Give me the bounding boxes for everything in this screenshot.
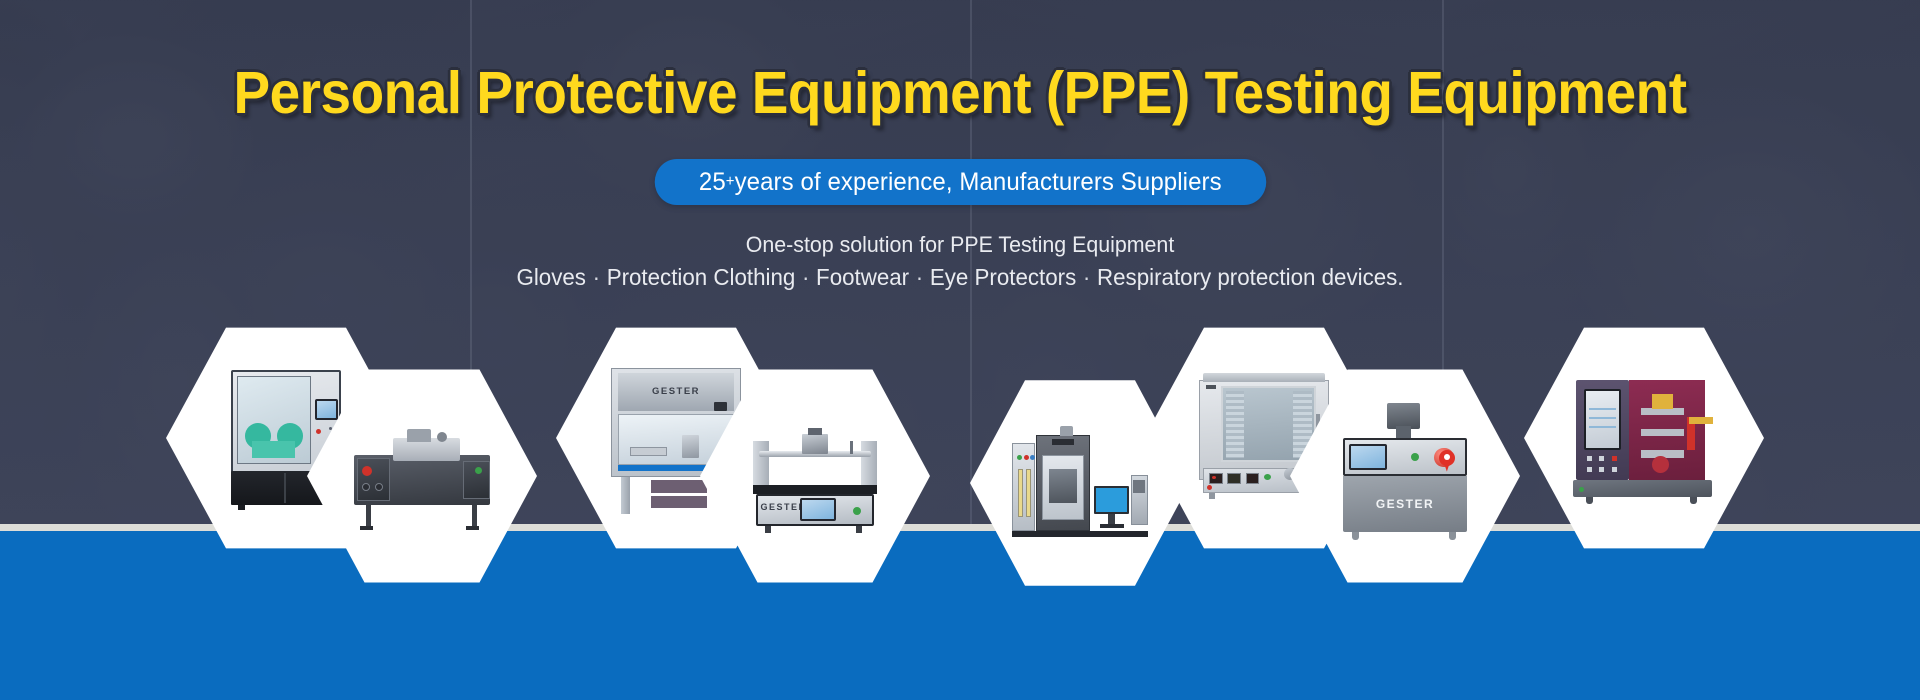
synthetic-blood-penetration-tester-image: [348, 403, 495, 550]
product-hexagon-row: GESTER: [0, 0, 1920, 700]
product-brand-label-3: GESTER: [599, 386, 753, 397]
ppe-hero-banner: Personal Protective Equipment (PPE) Test…: [0, 0, 1920, 700]
product-brand-label-7: GESTER: [1331, 497, 1478, 511]
vertical-flammability-chamber-image: [1010, 412, 1151, 553]
product-model-label-7: [1396, 444, 1398, 451]
location-pin-icon: [1439, 450, 1455, 472]
product-hexagon-5[interactable]: [970, 376, 1190, 590]
martindale-abrasion-tester-image: GESTER: [741, 403, 888, 550]
heat-contact-testing-machine-image: GESTER: [1331, 403, 1478, 550]
leather-flex-testing-machine-image: [1567, 362, 1721, 514]
product-hexagon-8[interactable]: [1524, 323, 1764, 553]
